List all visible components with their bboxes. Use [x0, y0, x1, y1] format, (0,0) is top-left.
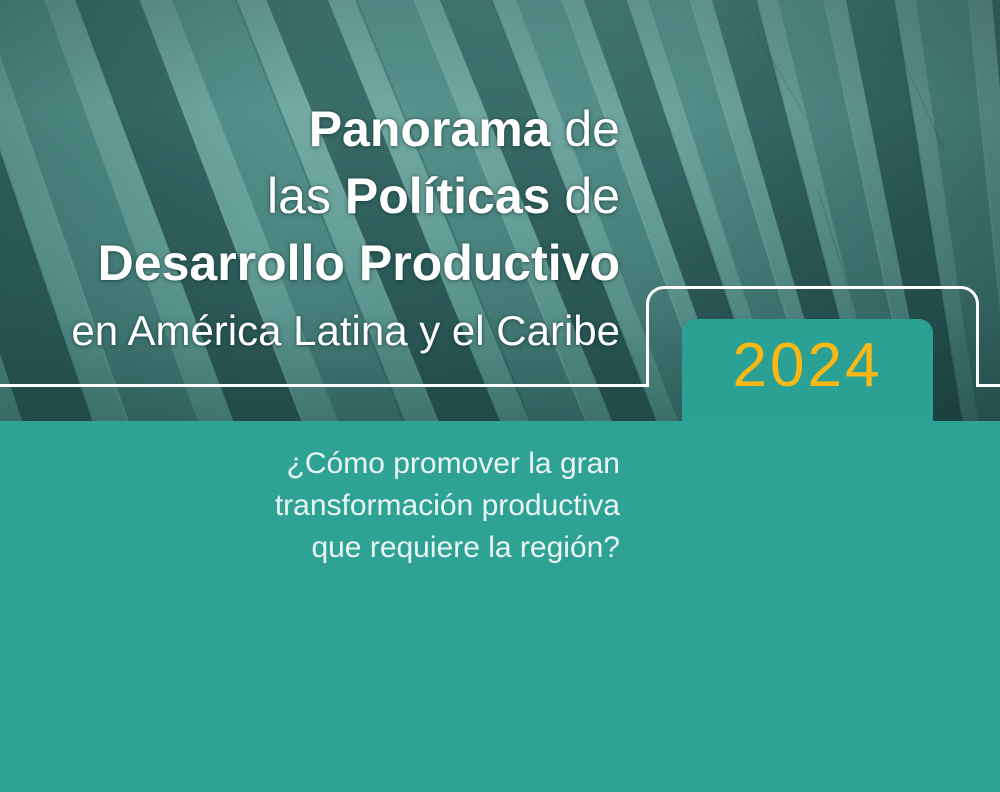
subtitle-line-1: ¿Cómo promover la gran	[20, 443, 620, 485]
subtitle-line-3: que requiere la región?	[20, 527, 620, 569]
title-line-2: las Políticas de	[20, 163, 620, 230]
subtitle-line-2: transformación productiva	[20, 485, 620, 527]
title-line-2-strong: Políticas	[345, 168, 551, 224]
year-label: 2024	[733, 335, 883, 397]
title-line-1-strong: Panorama	[309, 101, 551, 157]
year-badge: 2024	[682, 319, 933, 421]
title-line-3: Desarrollo Productivo	[20, 230, 620, 297]
horizontal-rule-left	[0, 384, 649, 387]
title-line-2-light: de	[550, 168, 620, 224]
title-line-3-strong: Desarrollo Productivo	[98, 235, 620, 291]
title-line-4: en América Latina y el Caribe	[20, 297, 620, 364]
subtitle: ¿Cómo promover la gran transformación pr…	[20, 443, 620, 569]
title-line-2-lead: las	[267, 168, 345, 224]
horizontal-rule-right-stub	[976, 384, 1000, 387]
title-line-4-light: en América Latina y el Caribe	[71, 307, 620, 354]
page-title: Panorama de las Políticas de Desarrollo …	[20, 96, 620, 364]
title-line-1-light: de	[550, 101, 620, 157]
publication-cover: 2024 Panorama de las Políticas de Desarr…	[0, 0, 1000, 792]
title-line-1: Panorama de	[20, 96, 620, 163]
